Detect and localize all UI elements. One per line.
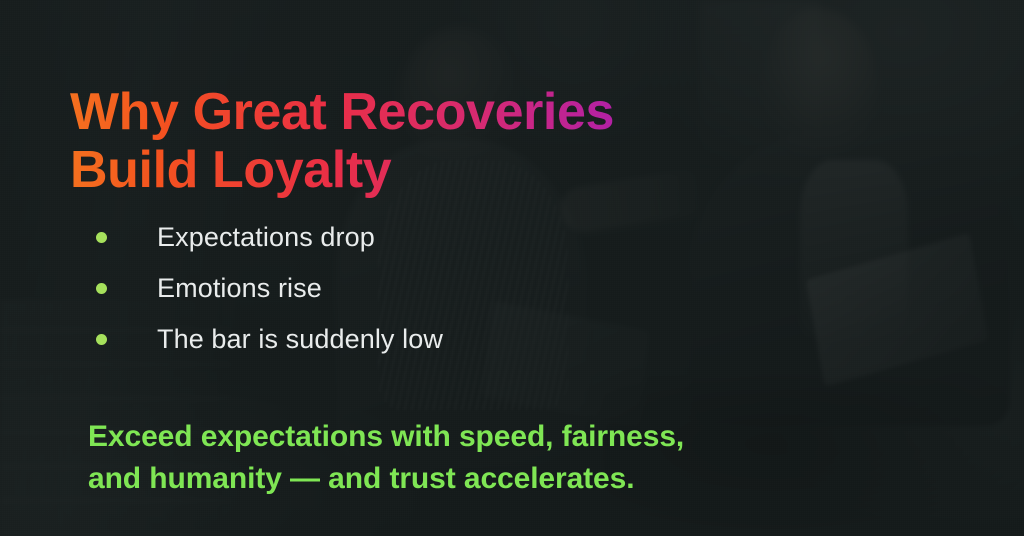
list-item: Expectations drop xyxy=(96,212,443,263)
bullet-item-label: The bar is suddenly low xyxy=(157,324,443,355)
slide-content: Why Great Recoveries Build Loyalty Expec… xyxy=(0,0,1024,536)
list-item: Emotions rise xyxy=(96,263,443,314)
bullet-list: Expectations drop Emotions rise The bar … xyxy=(96,212,443,365)
bullet-dot-icon xyxy=(96,334,107,345)
list-item: The bar is suddenly low xyxy=(96,314,443,365)
bullet-dot-icon xyxy=(96,232,107,243)
bullet-item-label: Expectations drop xyxy=(157,222,375,253)
slide-takeaway-text: Exceed expectations with speed, fairness… xyxy=(88,416,788,500)
bullet-item-label: Emotions rise xyxy=(157,273,322,304)
slide-headline: Why Great Recoveries Build Loyalty xyxy=(70,83,710,199)
presentation-slide: Why Great Recoveries Build Loyalty Expec… xyxy=(0,0,1024,536)
bullet-dot-icon xyxy=(96,283,107,294)
